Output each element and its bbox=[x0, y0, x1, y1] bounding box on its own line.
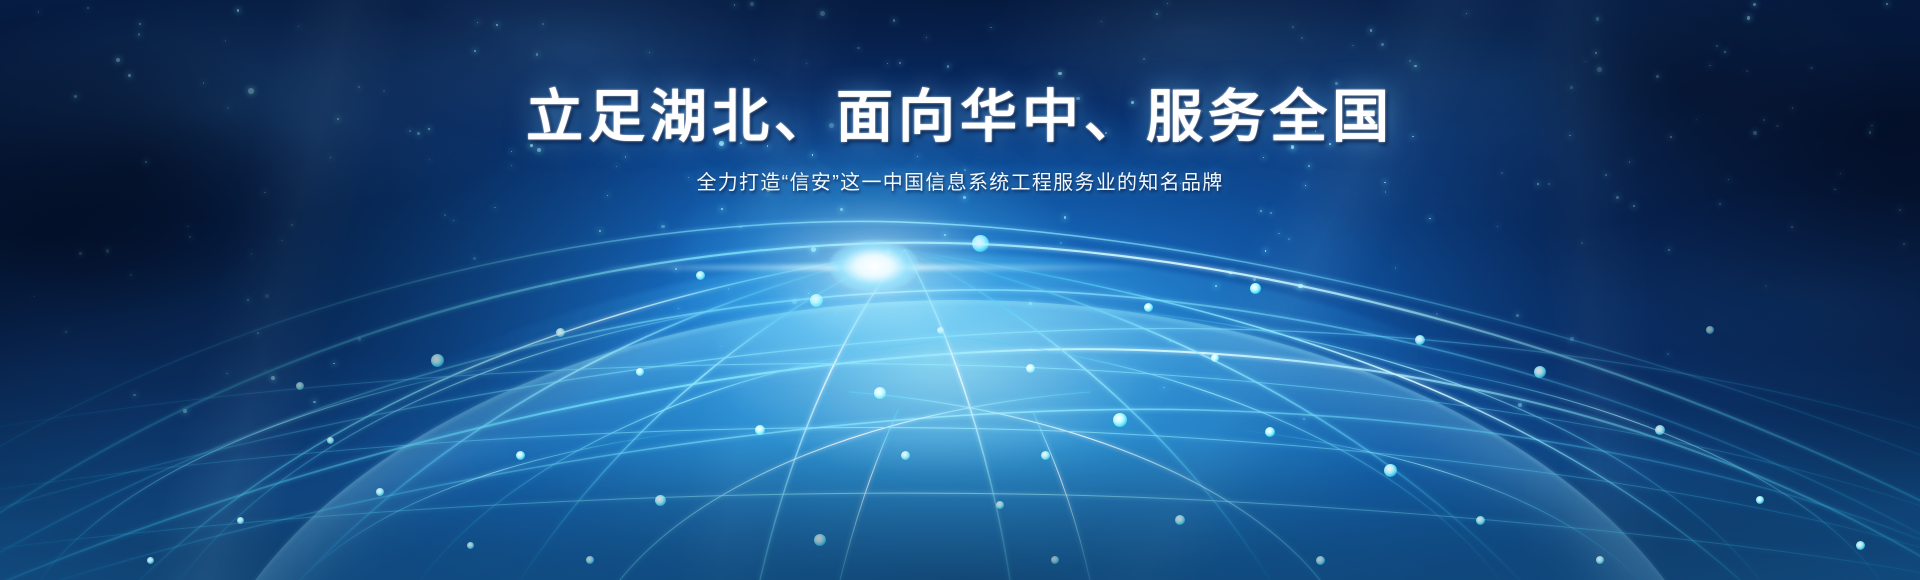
page-title: 立足湖北、面向华中、服务全国 bbox=[0, 84, 1920, 150]
banner-copy: 立足湖北、面向华中、服务全国 全力打造“信安”这一中国信息系统工程服务业的知名品… bbox=[0, 84, 1920, 198]
hero-banner: 立足湖北、面向华中、服务全国 全力打造“信安”这一中国信息系统工程服务业的知名品… bbox=[0, 0, 1920, 580]
page-subtitle: 全力打造“信安”这一中国信息系统工程服务业的知名品牌 bbox=[0, 168, 1920, 198]
